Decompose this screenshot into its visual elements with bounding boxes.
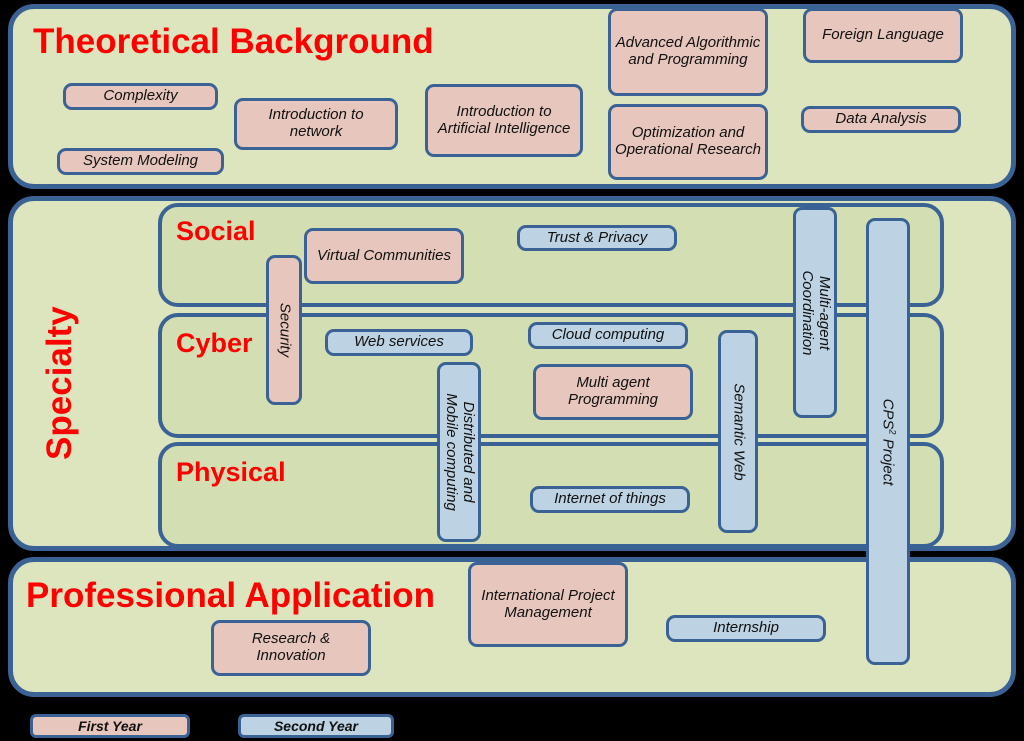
course-box-international-project-management[interactable]: International Project Management: [468, 562, 628, 647]
course-box-cps2-project[interactable]: CPS2 Project: [866, 218, 910, 665]
course-box-optimization-and-operational-research[interactable]: Optimization and Operational Research: [608, 104, 768, 180]
course-box-foreign-language[interactable]: Foreign Language: [803, 8, 963, 63]
course-box-multi-agent-programming[interactable]: Multi agent Programming: [533, 364, 693, 420]
course-box-research-and-innovation[interactable]: Research & Innovation: [211, 620, 371, 676]
course-box-distributed-and-mobile-computing-label: Distributed andMobile computing: [442, 364, 476, 540]
legend-second-year: Second Year: [238, 714, 394, 738]
course-box-semantic-web-label: Semantic Web: [730, 383, 747, 480]
subsection-title-cyber: Cyber: [176, 330, 253, 357]
course-box-internship[interactable]: Internship: [666, 615, 826, 642]
course-box-virtual-communities[interactable]: Virtual Communities: [304, 228, 464, 284]
course-box-internet-of-things[interactable]: Internet of things: [530, 486, 690, 513]
course-box-trust-and-privacy[interactable]: Trust & Privacy: [517, 225, 677, 251]
course-box-complexity[interactable]: Complexity: [63, 83, 218, 110]
course-box-distributed-and-mobile-computing[interactable]: Distributed andMobile computing: [437, 362, 481, 542]
page-title-professional: Professional Application: [26, 578, 435, 613]
subsection-title-social: Social: [176, 218, 256, 245]
course-box-semantic-web[interactable]: Semantic Web: [718, 330, 758, 533]
course-box-cloud-computing[interactable]: Cloud computing: [528, 322, 688, 349]
course-box-system-modeling[interactable]: System Modeling: [57, 148, 224, 175]
subsection-title-physical: Physical: [176, 459, 286, 486]
page-title-specialty: Specialty: [42, 306, 77, 460]
course-box-introduction-to-network[interactable]: Introduction to network: [234, 98, 398, 150]
course-box-multi-agent-coordination[interactable]: Multi-agentCoordination: [793, 207, 837, 418]
course-box-security[interactable]: Security: [266, 255, 302, 405]
course-box-multi-agent-coordination-label: Multi-agentCoordination: [798, 211, 832, 415]
legend-first-year: First Year: [30, 714, 190, 738]
course-box-web-services[interactable]: Web services: [325, 329, 473, 356]
course-box-cps2-project-label: CPS2 Project: [879, 398, 898, 485]
course-box-introduction-to-artificial-intelligence[interactable]: Introduction to Artificial Intelligence: [425, 84, 583, 157]
course-box-security-label: Security: [276, 303, 293, 357]
page-title-theoretical: Theoretical Background: [33, 24, 434, 59]
course-box-data-analysis[interactable]: Data Analysis: [801, 106, 961, 133]
diagram-canvas: Theoretical Background Complexity System…: [0, 0, 1024, 741]
cps2-base: CPS2 Project: [879, 398, 896, 485]
course-box-advanced-algorithmic-and-programming[interactable]: Advanced Algorithmic and Programming: [608, 8, 768, 96]
